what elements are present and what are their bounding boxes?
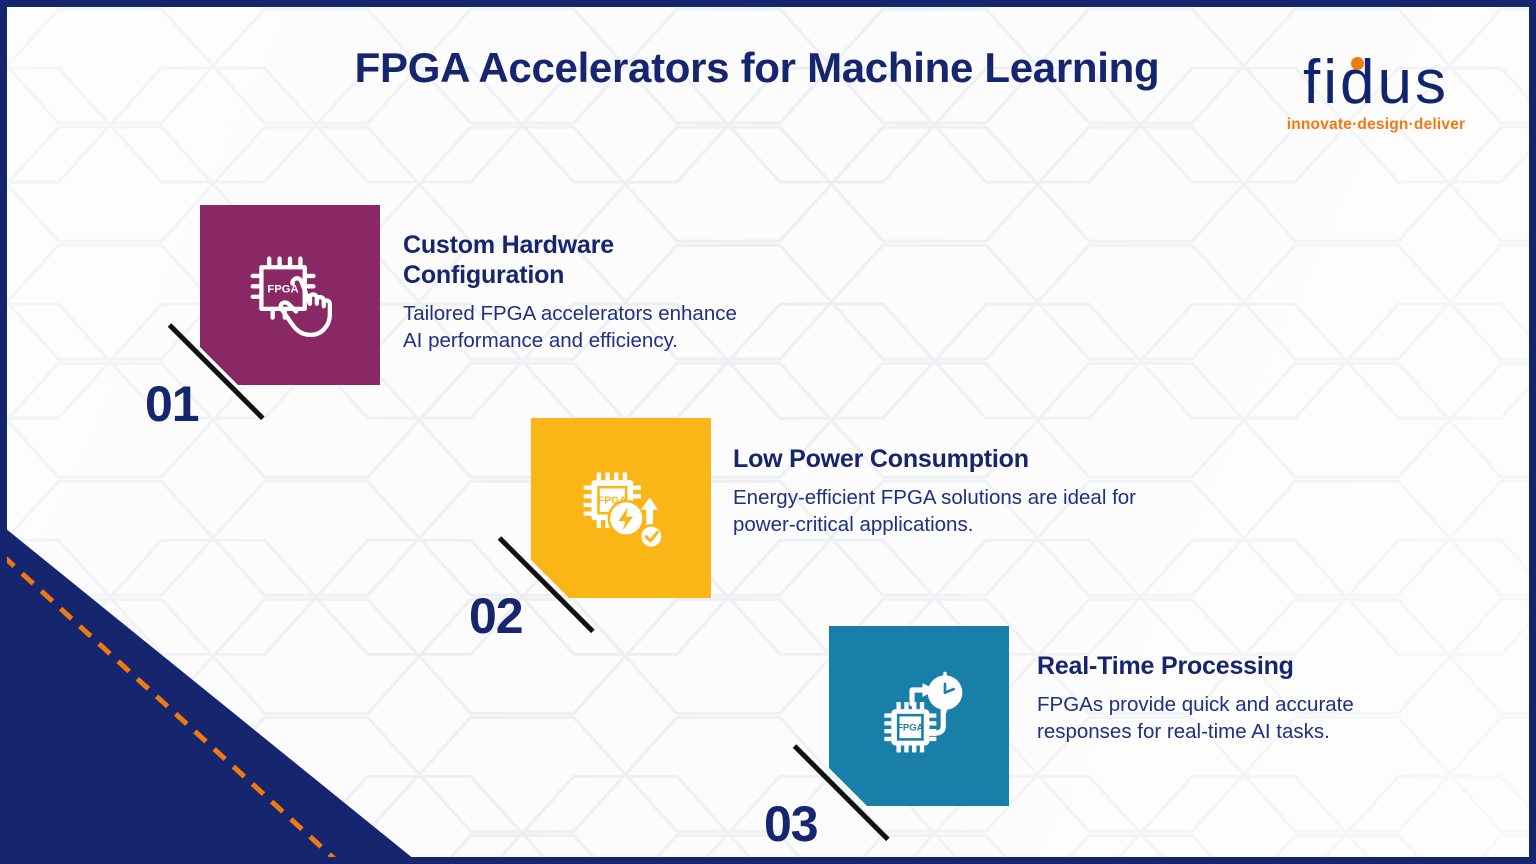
- logo-tagline: innovate·design·deliver: [1271, 116, 1481, 134]
- step-01-icon-tile: FPGA: [200, 205, 380, 385]
- step-01-text-block: Custom Hardware Configuration Tailored F…: [403, 230, 743, 355]
- step-02-number: 02: [469, 587, 523, 645]
- step-02-icon-tile: FPGA: [531, 418, 711, 598]
- step-01-description: Tailored FPGA accelerators enhance AI pe…: [403, 300, 743, 355]
- step-03-icon-tile: FPGA: [829, 626, 1009, 806]
- fpga-chip-power-bolt-arrow-check-icon: FPGA: [569, 456, 673, 560]
- logo-wordmark-text: fidus: [1303, 48, 1449, 117]
- step-02-text-block: Low Power Consumption Energy-efficient F…: [733, 444, 1153, 539]
- chip-label-03: FPGA: [897, 723, 924, 734]
- slide-canvas: FPGA Accelerators for Machine Learning f…: [0, 0, 1536, 864]
- logo-dot-icon: [1351, 57, 1364, 70]
- step-02-description: Energy-efficient FPGA solutions are idea…: [733, 484, 1153, 539]
- corner-triangle-decoration: [0, 524, 420, 864]
- step-03-description: FPGAs provide quick and accurate respons…: [1037, 691, 1437, 746]
- logo-wordmark: fidus: [1303, 53, 1449, 114]
- step-03-number: 03: [764, 795, 818, 853]
- step-03-heading: Real-Time Processing: [1037, 651, 1437, 681]
- step-01-heading: Custom Hardware Configuration: [403, 230, 743, 290]
- fpga-chip-clock-arrow-icon: FPGA: [867, 664, 971, 768]
- step-02-heading: Low Power Consumption: [733, 444, 1153, 474]
- step-01-number: 01: [145, 375, 199, 433]
- step-03-text-block: Real-Time Processing FPGAs provide quick…: [1037, 651, 1437, 746]
- check-circle-icon: [640, 525, 663, 548]
- fidus-logo: fidus innovate·design·deliver: [1271, 53, 1481, 134]
- orange-dashed-line: [3, 556, 340, 864]
- fpga-chip-hand-pointer-icon: FPGA: [238, 243, 342, 347]
- page-title: FPGA Accelerators for Machine Learning: [307, 43, 1207, 93]
